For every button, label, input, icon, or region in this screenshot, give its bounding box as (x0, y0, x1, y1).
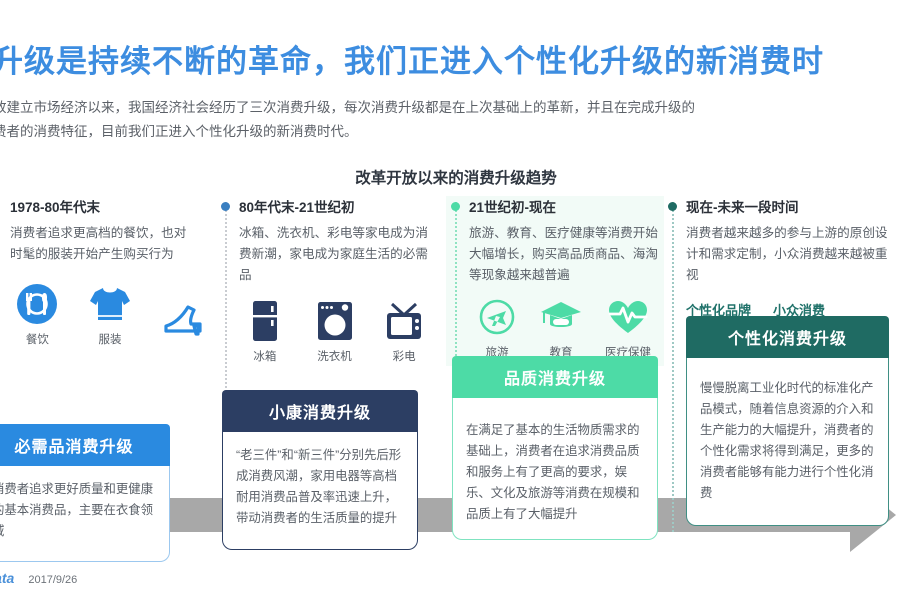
timeline-column-4: 现在-未来一段时间 消费者越来越多的参与上游的原创设计和需求定制，小众消费越来越… (672, 196, 897, 319)
era-label-1: 1978-80年代末 (10, 196, 210, 216)
subtitle-line-2: 了消费者的消费特征，目前我们正进入个性化升级的新消费时代。 (0, 120, 912, 144)
stage-card-1-title: 必需品消费升级 (0, 424, 170, 466)
high-heel-shoe-icon (155, 297, 210, 343)
stage-card-2-body: “老三件”和“新三件”分别先后形成消费风潮，家用电器等高档耐用消费品普及率迅速上… (222, 432, 418, 550)
stage-card-4-body: 慢慢脱离工业化时代的标准化产品模式，随着信息资源的介入和生产能力的大幅提升，消费… (686, 358, 889, 526)
stage-card-2: 小康消费升级 “老三件”和“新三件”分别先后形成消费风潮，家用电器等高档耐用消费… (222, 390, 418, 550)
page-title: 费升级是持续不断的革命，我们正进入个性化升级的新消费时 (0, 36, 912, 81)
footer-date: 2017/9/26 (28, 574, 77, 586)
timeline-column-3: 21世纪初-现在 旅游、教育、医疗健康等消费开始大幅增长，购买高品质商品、海淘等… (455, 196, 670, 360)
icon-tshirt: 服装 (83, 281, 138, 347)
stage-card-3-body: 在满足了基本的生活物质需求的基础上，消费者在追求消费品质和服务上有了更高的要求，… (452, 398, 658, 540)
footer: Data 2017/9/26 (0, 570, 77, 586)
dining-icon (10, 281, 65, 327)
brand-logo: Data (0, 570, 14, 586)
era-label-3: 21世纪初-现在 (469, 196, 670, 216)
tshirt-icon (83, 281, 138, 327)
graduation-cap-icon (533, 294, 589, 340)
icon-row-2: 冰箱 洗衣机 (239, 298, 430, 364)
era-description-2: 冰箱、洗衣机、彩电等家电成为消费新潮，家电成为家庭生活的必需品 (239, 223, 429, 286)
stage-card-4: 个性化消费升级 慢慢脱离工业化时代的标准化产品模式，随着信息资源的介入和生产能力… (686, 316, 889, 526)
subtitle-line-1: 革开放建立市场经济以来，我国经济社会经历了三次消费升级，每次消费升级都是在上次基… (0, 100, 695, 115)
icon-refrigerator: 冰箱 (239, 298, 291, 364)
icon-healthcare: 医疗保健 (597, 294, 659, 360)
stage-card-1: 必需品消费升级 消费者追求更好质量和更健康的基本消费品，主要在衣食领域 (0, 424, 170, 562)
icon-caption-dining: 餐饮 (10, 331, 65, 347)
era-label-2: 80年代末-21世纪初 (239, 196, 430, 216)
icon-travel: 旅游 (469, 294, 525, 360)
icon-television: 彩电 (378, 298, 430, 364)
icon-caption-washing-machine: 洗衣机 (309, 348, 361, 364)
airplane-travel-icon (469, 294, 525, 340)
page-subtitle: 革开放建立市场经济以来，我国经济社会经历了三次消费升级，每次消费升级都是在上次基… (0, 96, 912, 144)
timeline-dot-4 (668, 202, 677, 211)
washing-machine-icon (309, 298, 361, 344)
timeline-column-1: 1978-80年代末 消费者追求更高档的餐饮，也对时髦的服装开始产生购买行为 餐… (10, 196, 210, 347)
icon-caption-clothing: 服装 (83, 331, 138, 347)
timeline-divider-4 (672, 202, 674, 532)
stage-card-1-body: 消费者追求更好质量和更健康的基本消费品，主要在衣食领域 (0, 466, 170, 562)
stage-card-2-title: 小康消费升级 (222, 390, 418, 432)
timeline-dot-3 (451, 202, 460, 211)
icon-caption-refrigerator: 冰箱 (239, 348, 291, 364)
icon-row-3: 旅游 教育 (469, 294, 670, 360)
icon-caption-television: 彩电 (378, 348, 430, 364)
icon-dining: 餐饮 (10, 281, 65, 347)
icon-high-heel-shoe (155, 297, 210, 347)
television-icon (378, 298, 430, 344)
icon-washing-machine: 洗衣机 (309, 298, 361, 364)
era-label-4: 现在-未来一段时间 (686, 196, 897, 216)
era-description-3: 旅游、教育、医疗健康等消费开始大幅增长，购买高品质商品、海淘等现象越来越普遍 (469, 223, 669, 286)
timeline-dot-2 (221, 202, 230, 211)
chart-title: 改革开放以来的消费升级趋势 (0, 166, 912, 188)
stage-card-4-title: 个性化消费升级 (686, 316, 889, 358)
refrigerator-icon (239, 298, 291, 344)
stage-card-3-title: 品质消费升级 (452, 356, 658, 398)
icon-education: 教育 (533, 294, 589, 360)
stage-card-3: 品质消费升级 在满足了基本的生活物质需求的基础上，消费者在追求消费品质和服务上有… (452, 356, 658, 540)
timeline-column-2: 80年代末-21世纪初 冰箱、洗衣机、彩电等家电成为消费新潮，家电成为家庭生活的… (225, 196, 430, 364)
era-description-4: 消费者越来越多的参与上游的原创设计和需求定制，小众消费越来越被重视 (686, 223, 891, 286)
icon-row-1: 餐饮 服装 (10, 281, 210, 347)
infographic-canvas: 费升级是持续不断的革命，我们正进入个性化升级的新消费时 革开放建立市场经济以来，… (0, 0, 912, 608)
era-description-1: 消费者追求更高档的餐饮，也对时髦的服装开始产生购买行为 (10, 223, 195, 265)
heart-pulse-icon (597, 294, 659, 340)
